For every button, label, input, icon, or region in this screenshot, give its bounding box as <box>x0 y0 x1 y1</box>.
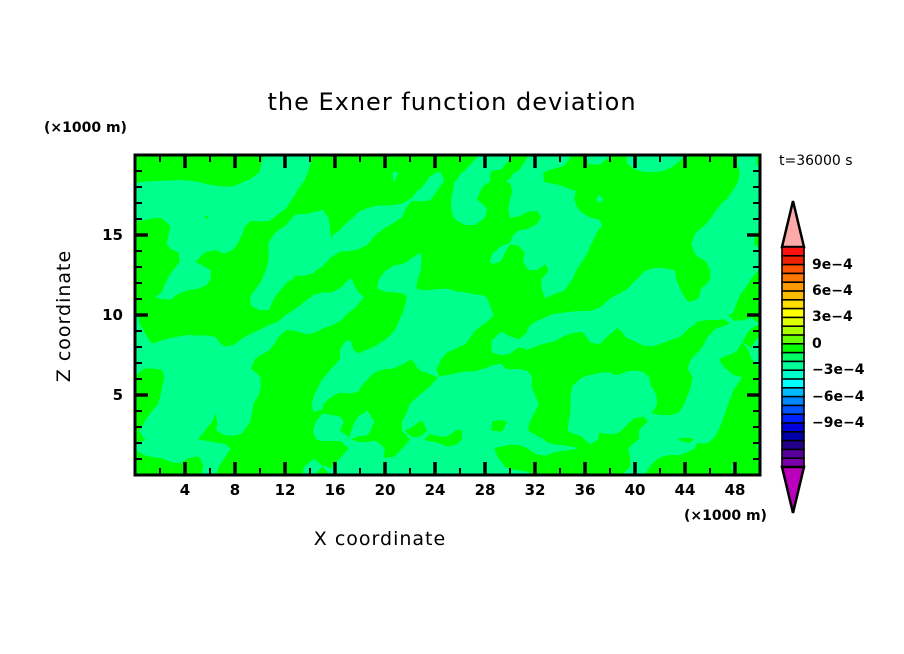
colorbar-swatch[interactable] <box>782 414 804 423</box>
colorbar-under-arrow <box>782 467 804 513</box>
colorbar-swatch[interactable] <box>782 397 804 406</box>
colorbar-swatch[interactable] <box>782 388 804 397</box>
colorbar-swatch[interactable] <box>782 247 804 256</box>
colorbar-swatch[interactable] <box>782 344 804 353</box>
colorbar-swatch[interactable] <box>782 265 804 274</box>
colorbar-over-arrow <box>782 201 804 247</box>
colorbar-swatch[interactable] <box>782 309 804 318</box>
colorbar-swatch[interactable] <box>782 300 804 309</box>
colorbar-swatch[interactable] <box>782 282 804 291</box>
colorbar-swatch[interactable] <box>782 361 804 370</box>
colorbar-swatch[interactable] <box>782 441 804 450</box>
colorbar-swatch[interactable] <box>782 423 804 432</box>
colorbar[interactable] <box>782 201 804 513</box>
colorbar-swatch[interactable] <box>782 291 804 300</box>
contour-plot-canvas <box>0 0 904 654</box>
contour-field <box>135 155 760 475</box>
colorbar-swatch[interactable] <box>782 432 804 441</box>
colorbar-swatch[interactable] <box>782 370 804 379</box>
colorbar-swatch[interactable] <box>782 256 804 265</box>
colorbar-swatch[interactable] <box>782 449 804 458</box>
colorbar-swatch[interactable] <box>782 273 804 282</box>
colorbar-swatch[interactable] <box>782 335 804 344</box>
colorbar-swatch[interactable] <box>782 317 804 326</box>
colorbar-swatch[interactable] <box>782 353 804 362</box>
colorbar-swatch[interactable] <box>782 379 804 388</box>
colorbar-swatch[interactable] <box>782 405 804 414</box>
colorbar-swatch[interactable] <box>782 326 804 335</box>
